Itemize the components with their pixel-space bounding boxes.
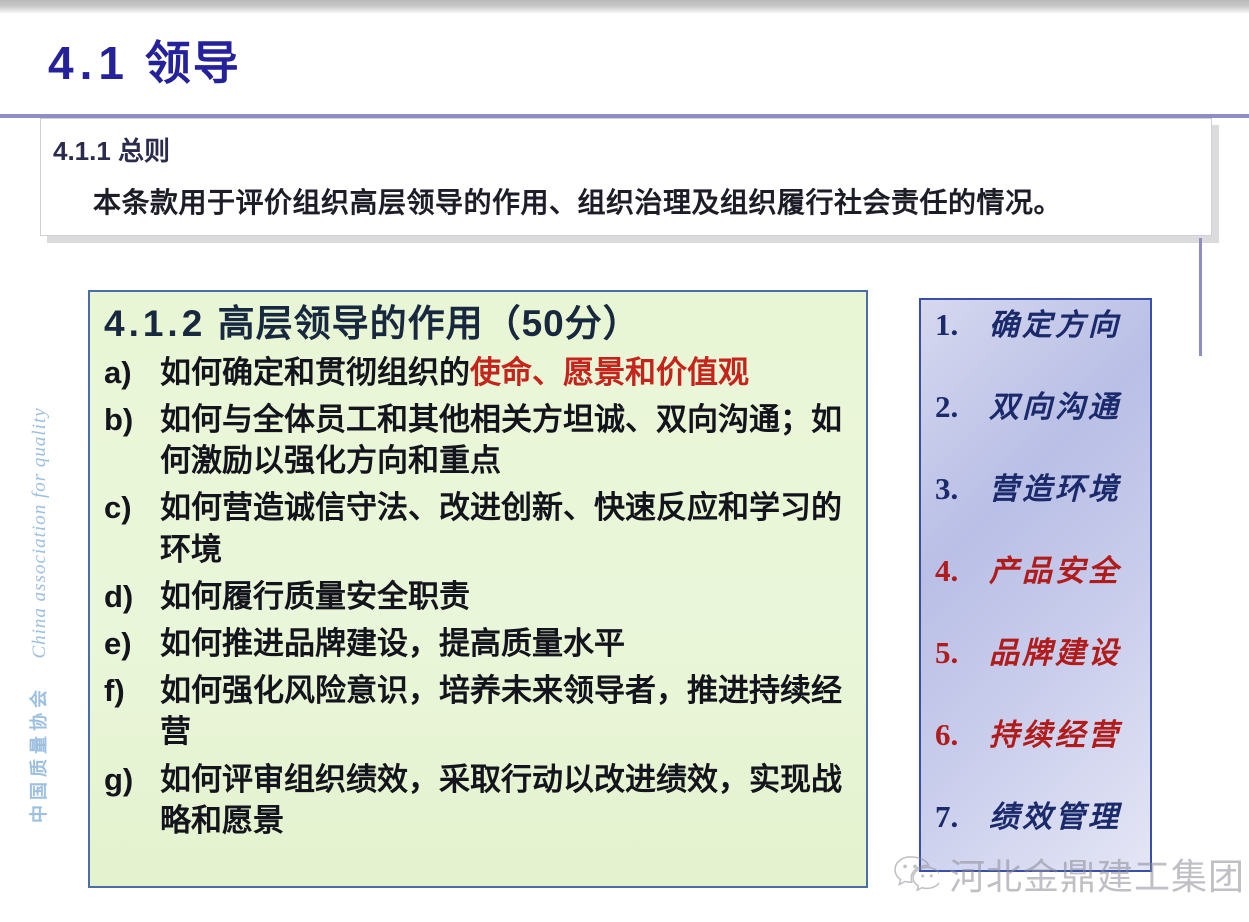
green-list-item-label: f) <box>104 670 160 711</box>
key-point-number: 5. <box>935 635 989 671</box>
caq-watermark: 中国质量协会 China association for quality <box>25 403 51 823</box>
green-list-item-text-plain: 如何营造诚信守法、改进创新、快速反应和学习的环境 <box>160 490 842 566</box>
green-list-item-text-plain: 如何确定和贯彻组织的 <box>160 355 470 390</box>
key-point-number: 3. <box>935 471 989 507</box>
green-list-item: a)如何确定和贯彻组织的使命、愿景和价值观 <box>104 352 852 393</box>
green-list-item: c)如何营造诚信守法、改进创新、快速反应和学习的环境 <box>104 487 852 569</box>
key-point-row: 2.双向沟通 <box>921 382 1150 464</box>
key-point-row: 5.品牌建设 <box>921 628 1150 710</box>
green-item-list: a)如何确定和贯彻组织的使命、愿景和价值观b)如何与全体员工和其他相关方坦诚、双… <box>104 352 852 841</box>
green-list-item-text: 如何评审组织绩效，采取行动以改进绩效，实现战略和愿景 <box>160 759 852 841</box>
caq-watermark-chinese: 中国质量协会 <box>29 685 49 823</box>
connector-line <box>1199 238 1202 356</box>
key-points-list: 1.确定方向2.双向沟通3.营造环境4.产品安全5.品牌建设6.持续经营7.绩效… <box>921 300 1150 872</box>
key-points-panel: 1.确定方向2.双向沟通3.营造环境4.产品安全5.品牌建设6.持续经营7.绩效… <box>919 298 1152 872</box>
key-point-row: 3.营造环境 <box>921 464 1150 546</box>
green-list-item: b)如何与全体员工和其他相关方坦诚、双向沟通；如何激励以强化方向和重点 <box>104 399 852 481</box>
key-point-row: 4.产品安全 <box>921 546 1150 628</box>
key-point-label: 绩效管理 <box>989 792 1121 836</box>
key-point-label: 双向沟通 <box>989 382 1121 426</box>
green-list-item-text-highlight: 使命、愿景和价值观 <box>470 355 749 390</box>
green-list-item-text-plain: 如何与全体员工和其他相关方坦诚、双向沟通；如何激励以强化方向和重点 <box>160 402 842 478</box>
green-list-item-label: d) <box>104 576 160 617</box>
key-point-label: 产品安全 <box>989 546 1121 590</box>
green-list-item-label: a) <box>104 352 160 393</box>
green-list-item-text: 如何履行质量安全职责 <box>160 576 852 617</box>
green-list-item: g)如何评审组织绩效，采取行动以改进绩效，实现战略和愿景 <box>104 759 852 841</box>
page-title-number: 4.1 <box>48 37 130 89</box>
key-point-label: 品牌建设 <box>989 628 1121 672</box>
key-point-row: 6.持续经营 <box>921 710 1150 792</box>
intro-card: 4.1.1 总则 本条款用于评价组织高层领导的作用、组织治理及组织履行社会责任的… <box>40 118 1212 236</box>
green-list-item-text: 如何与全体员工和其他相关方坦诚、双向沟通；如何激励以强化方向和重点 <box>160 399 852 481</box>
page-title-text: 领导 <box>145 37 241 89</box>
caq-watermark-english: China association for quality <box>29 407 50 658</box>
key-point-number: 2. <box>935 389 989 425</box>
key-point-number: 7. <box>935 799 989 835</box>
green-list-item-text-plain: 如何履行质量安全职责 <box>160 579 470 614</box>
green-list-item-text: 如何确定和贯彻组织的使命、愿景和价值观 <box>160 352 852 393</box>
slide-canvas: 4.1 领导 4.1.1 总则 本条款用于评价组织高层领导的作用、组织治理及组织… <box>0 0 1249 922</box>
green-heading-number: 4.1.2 <box>104 303 206 344</box>
key-point-row: 1.确定方向 <box>921 300 1150 382</box>
green-list-item: f)如何强化风险意识，培养未来领导者，推进持续经营 <box>104 670 852 752</box>
green-list-item-text-plain: 如何强化风险意识，培养未来领导者，推进持续经营 <box>160 673 842 749</box>
key-point-number: 1. <box>935 307 989 343</box>
green-list-item-text: 如何推进品牌建设，提高质量水平 <box>160 623 852 664</box>
green-list-item-label: e) <box>104 623 160 664</box>
green-content-box: 4.1.2 高层领导的作用（50分） a)如何确定和贯彻组织的使命、愿景和价值观… <box>88 290 868 888</box>
green-list-item-label: g) <box>104 759 160 800</box>
green-box-heading: 4.1.2 高层领导的作用（50分） <box>104 302 852 346</box>
key-point-label: 确定方向 <box>989 300 1121 344</box>
key-point-row: 7.绩效管理 <box>921 792 1150 872</box>
key-point-label: 营造环境 <box>989 464 1121 508</box>
green-list-item-text: 如何强化风险意识，培养未来领导者，推进持续经营 <box>160 670 852 752</box>
green-list-item: d)如何履行质量安全职责 <box>104 576 852 617</box>
green-list-item-label: c) <box>104 487 160 528</box>
green-list-item-text-plain: 如何推进品牌建设，提高质量水平 <box>160 626 625 661</box>
green-list-item-text-plain: 如何评审组织绩效，采取行动以改进绩效，实现战略和愿景 <box>160 762 842 838</box>
intro-heading: 4.1.1 总则 <box>53 131 170 168</box>
green-heading-text: 高层领导的作用（50分） <box>218 303 641 344</box>
green-list-item-label: b) <box>104 399 160 440</box>
key-point-label: 持续经营 <box>989 710 1121 754</box>
top-gradient-strip <box>0 0 1249 14</box>
green-list-item: e)如何推进品牌建设，提高质量水平 <box>104 623 852 664</box>
key-point-number: 6. <box>935 717 989 753</box>
key-point-number: 4. <box>935 553 989 589</box>
page-title: 4.1 领导 <box>48 38 241 89</box>
green-list-item-text: 如何营造诚信守法、改进创新、快速反应和学习的环境 <box>160 487 852 569</box>
intro-body-text: 本条款用于评价组织高层领导的作用、组织治理及组织履行社会责任的情况。 <box>93 181 1062 221</box>
